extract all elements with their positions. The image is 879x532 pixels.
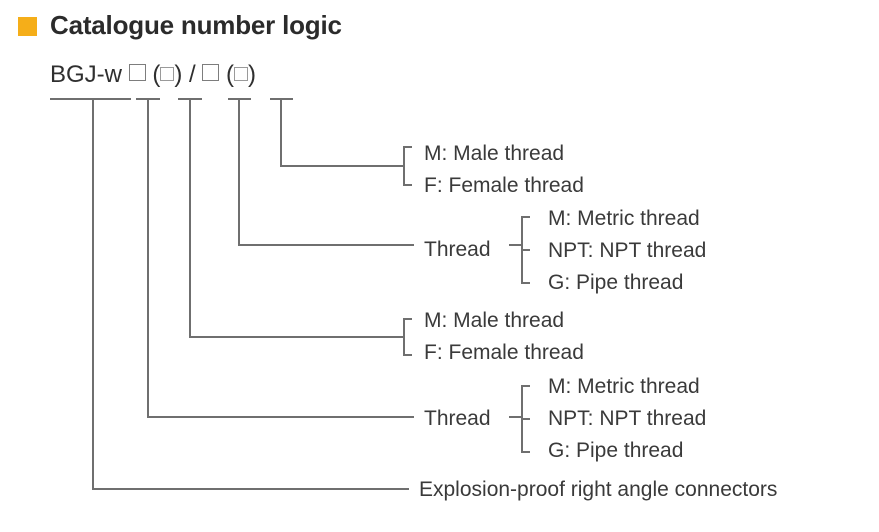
- branch-3-item-1: F: Female thread: [424, 342, 584, 363]
- branch-4-item-0: M: Metric thread: [548, 376, 700, 397]
- branch-1-item-1: F: Female thread: [424, 175, 584, 196]
- branch-2-item-1: NPT: NPT thread: [548, 240, 706, 261]
- bracket-branch-3: [404, 319, 412, 355]
- branch-5-item-0: Explosion-proof right angle connectors: [419, 479, 777, 500]
- leader-line-1: [93, 99, 409, 489]
- leader-line-3: [190, 99, 404, 337]
- diagram-canvas: Catalogue number logic BGJ-w () / (): [0, 0, 879, 532]
- branch-2-item-0: M: Metric thread: [548, 208, 700, 229]
- branch-4-item-2: G: Pipe thread: [548, 440, 683, 461]
- branch-4-item-1: NPT: NPT thread: [548, 408, 706, 429]
- branch-3-item-0: M: Male thread: [424, 310, 564, 331]
- leader-line-4: [239, 99, 414, 245]
- branch-4-group-label: Thread: [424, 408, 491, 429]
- branch-2-group-label: Thread: [424, 239, 491, 260]
- branch-1-item-0: M: Male thread: [424, 143, 564, 164]
- connector-lines: [0, 0, 879, 532]
- bracket-branch-1: [404, 147, 412, 185]
- leader-line-5: [281, 99, 404, 166]
- branch-2-item-2: G: Pipe thread: [548, 272, 683, 293]
